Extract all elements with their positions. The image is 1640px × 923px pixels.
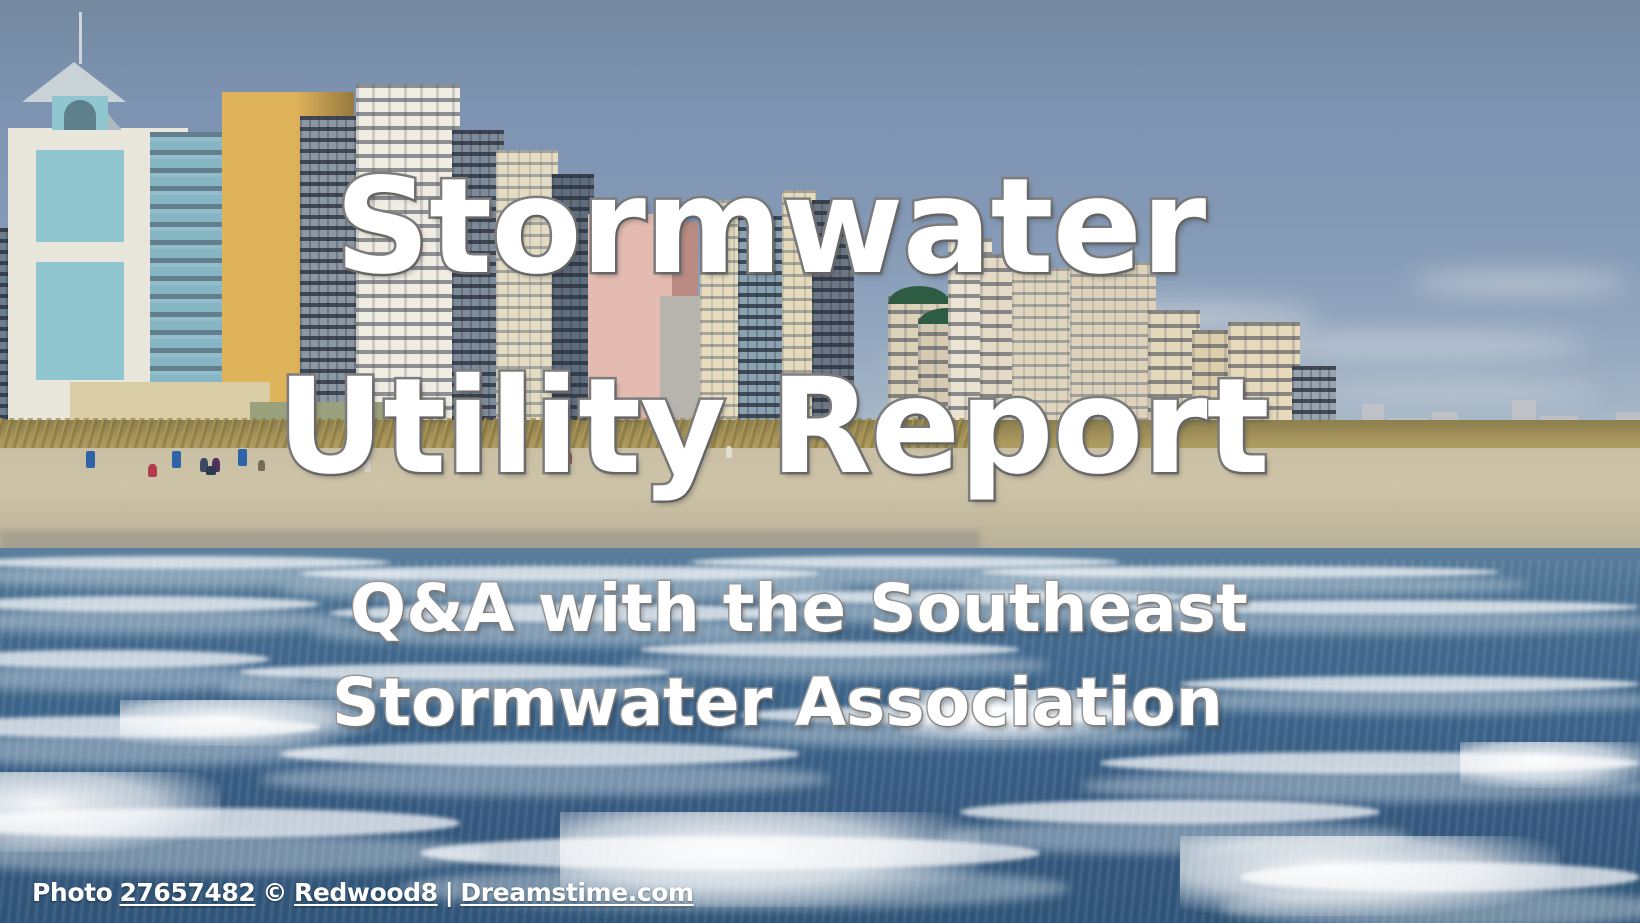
- title-slide: Stormwater Utility Report Q&A with the S…: [0, 0, 1640, 923]
- watermark-author: Redwood8: [294, 878, 438, 907]
- stock-photo-watermark: Photo 27657482 © Redwood8 | Dreamstime.c…: [32, 878, 694, 907]
- watermark-separator: |: [445, 878, 454, 907]
- slide-subtitle-line-1: Q&A with the Southeast: [350, 570, 1248, 647]
- watermark-prefix: Photo: [32, 878, 112, 907]
- text-overlay: Stormwater Utility Report Q&A with the S…: [0, 0, 1640, 923]
- slide-subtitle-line-2: Stormwater Association: [332, 664, 1223, 741]
- watermark-photo-id: 27657482: [119, 878, 255, 907]
- watermark-copyright-icon: ©: [262, 878, 287, 907]
- slide-title-line-1: Stormwater: [335, 150, 1205, 304]
- watermark-site-link[interactable]: Dreamstime.com: [460, 878, 693, 907]
- slide-title-line-2: Utility Report: [277, 350, 1269, 504]
